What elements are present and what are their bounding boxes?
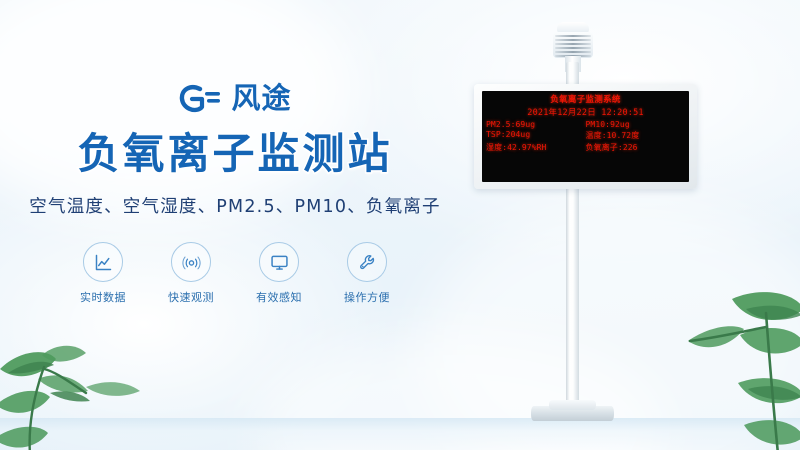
- reading-row: PM2.5:69ug PM10:92ug: [486, 120, 685, 129]
- hero-subtitle: 空气温度、空气湿度、PM2.5、PM10、负氧离子: [0, 193, 470, 218]
- hero-banner: 风途 负氧离子监测站 空气温度、空气湿度、PM2.5、PM10、负氧离子 实时数…: [0, 0, 800, 450]
- feature-label: 快速观测: [160, 289, 222, 305]
- sensor-louvers: [553, 32, 593, 58]
- feature-item-fast-observation[interactable]: 快速观测: [160, 242, 222, 305]
- reading-negative-oxygen-ions: 负氧离子:226: [586, 142, 686, 153]
- feature-item-effective-sensing[interactable]: 有效感知: [248, 242, 310, 305]
- hero-text-block: 风途 负氧离子监测站 空气温度、空气湿度、PM2.5、PM10、负氧离子 实时数…: [0, 78, 470, 305]
- reading-row: 湿度:42.97%RH 负氧离子:226: [486, 142, 685, 153]
- brand-logo: 风途: [0, 78, 470, 118]
- feature-item-realtime-data[interactable]: 实时数据: [72, 242, 134, 305]
- display-datetime: 2021年12月22日 12:20:51: [482, 106, 689, 118]
- led-screen: 负氧离子监测系统 2021年12月22日 12:20:51 PM2.5:69ug…: [482, 91, 689, 182]
- reading-temperature: 温度:10.72度: [586, 130, 686, 141]
- brand-name: 风途: [231, 84, 291, 113]
- line-chart-icon: [83, 242, 123, 282]
- reading-pm25: PM2.5:69ug: [486, 120, 586, 129]
- pole-base-plate: [531, 406, 614, 421]
- gf-logo-icon: [178, 83, 222, 113]
- feature-label: 实时数据: [72, 289, 134, 305]
- wrench-icon: [347, 242, 387, 282]
- ground-line: [0, 418, 800, 450]
- feature-item-easy-operation[interactable]: 操作方便: [336, 242, 398, 305]
- display-title: 负氧离子监测系统: [482, 93, 689, 105]
- reading-row: TSP:204ug 温度:10.72度: [486, 130, 685, 141]
- reading-pm10: PM10:92ug: [586, 120, 686, 129]
- led-display-panel: 负氧离子监测系统 2021年12月22日 12:20:51 PM2.5:69ug…: [474, 84, 697, 189]
- page-title: 负氧离子监测站: [0, 130, 470, 177]
- radar-signal-icon: [171, 242, 211, 282]
- feature-label: 有效感知: [248, 289, 310, 305]
- feature-label: 操作方便: [336, 289, 398, 305]
- display-readings: PM2.5:69ug PM10:92ug TSP:204ug 温度:10.72度…: [482, 120, 689, 153]
- reading-tsp: TSP:204ug: [486, 130, 586, 141]
- monitor-icon: [259, 242, 299, 282]
- feature-list: 实时数据 快速观测: [0, 242, 470, 305]
- reading-humidity: 湿度:42.97%RH: [486, 142, 586, 153]
